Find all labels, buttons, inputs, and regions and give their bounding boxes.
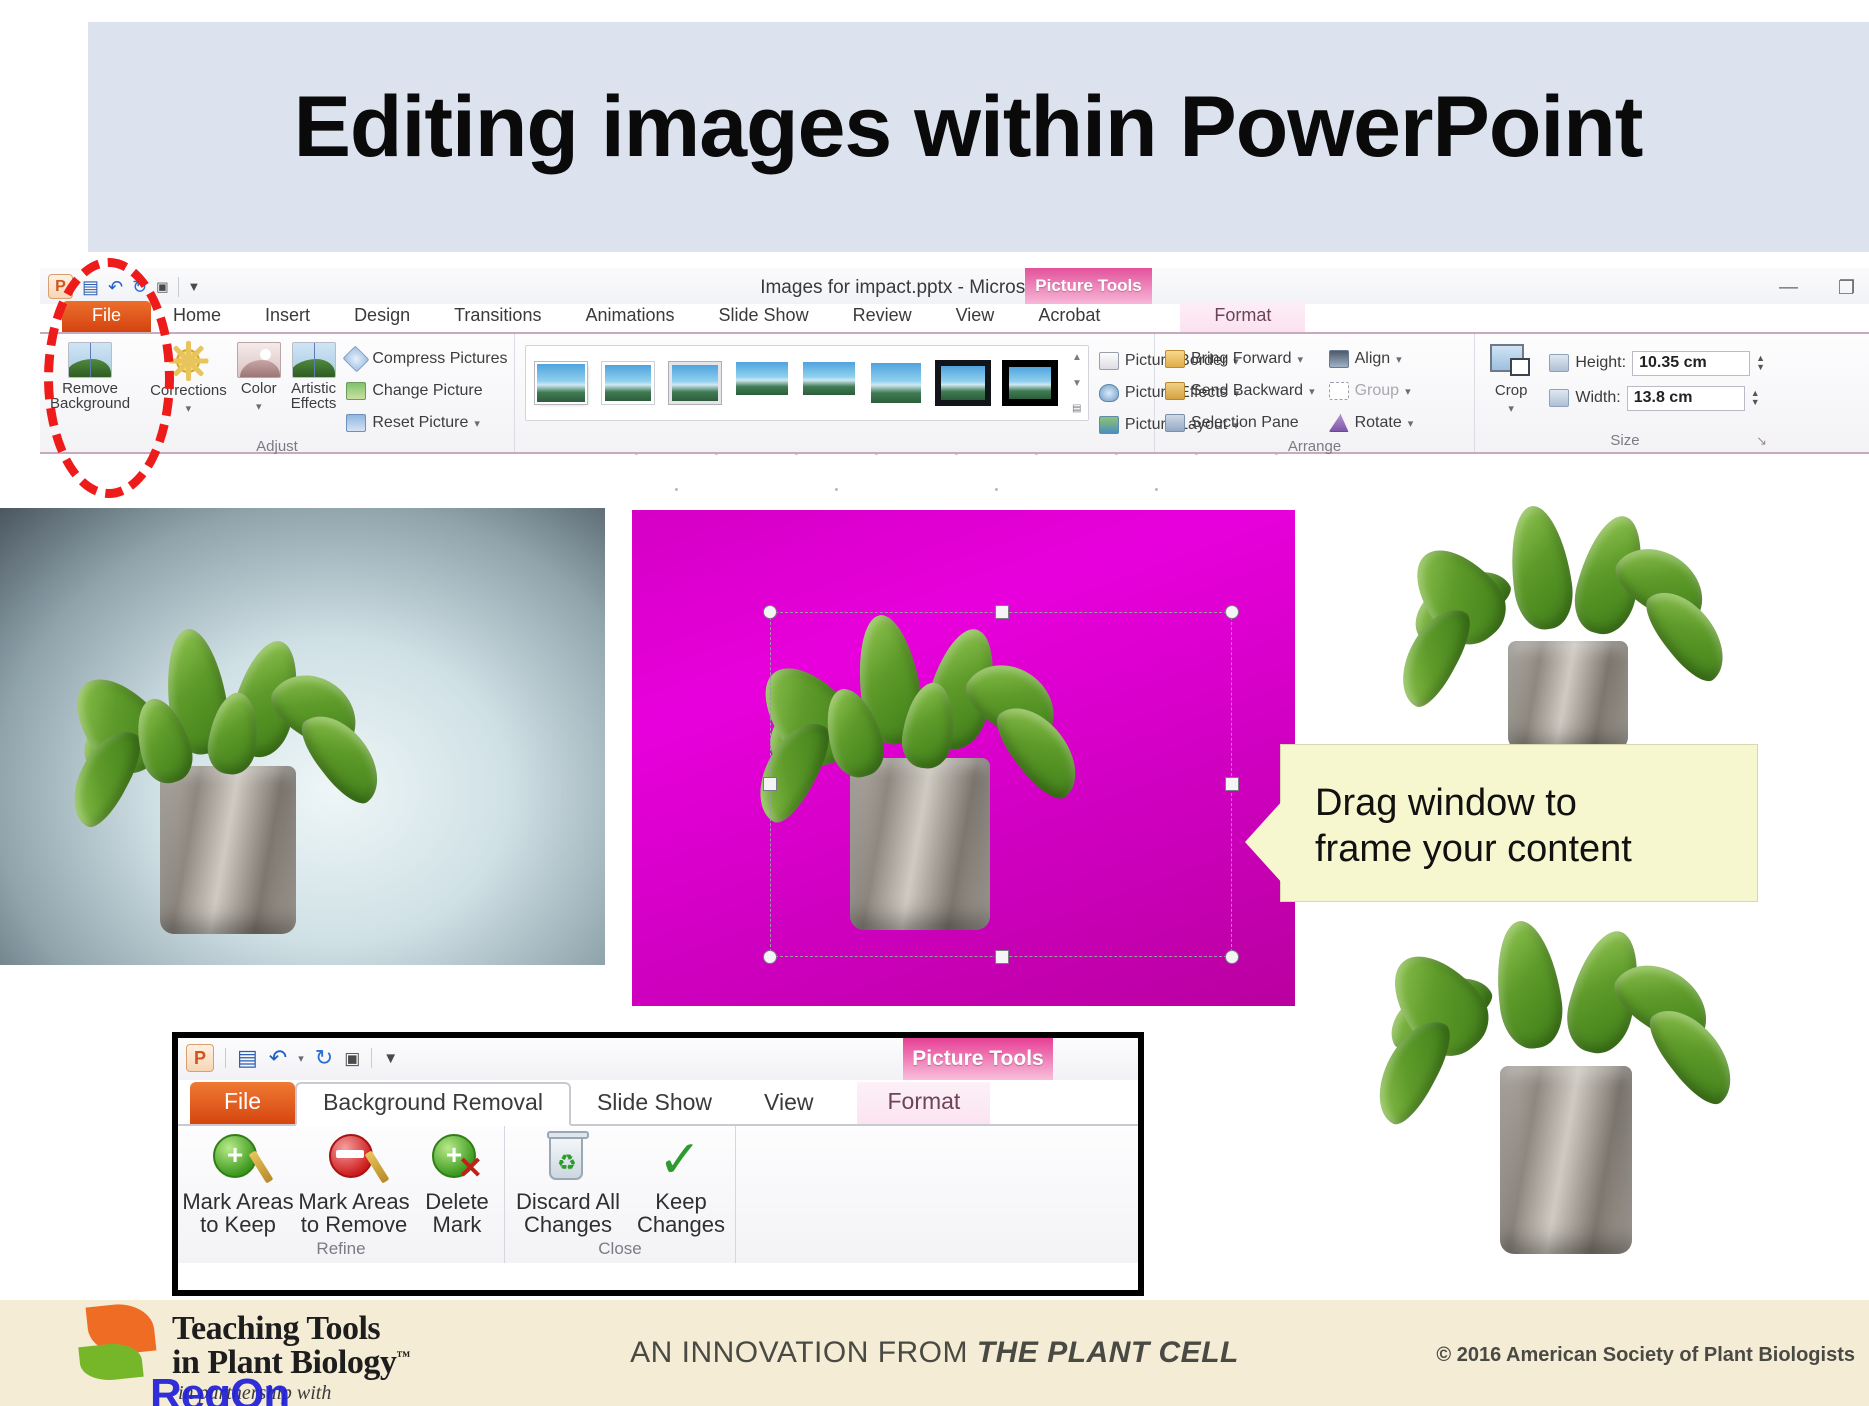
br-tab-file[interactable]: File xyxy=(190,1082,295,1124)
br-empty-area xyxy=(736,1126,1138,1263)
color-label: Color xyxy=(241,381,277,397)
artistic-effects-label-2: Effects xyxy=(291,396,337,412)
tab-home[interactable]: Home xyxy=(151,302,243,332)
mark-areas-to-keep-button[interactable]: + Mark Areas to Keep xyxy=(182,1132,294,1237)
resize-handle-ne[interactable] xyxy=(1225,605,1239,619)
contextual-tab-title: Picture Tools xyxy=(1025,268,1152,304)
resize-handle-w[interactable] xyxy=(763,777,777,791)
tab-design[interactable]: Design xyxy=(332,302,432,332)
br-tabstrip[interactable]: File Background Removal Slide Show View … xyxy=(178,1080,1138,1126)
picture-style-thumbnail[interactable] xyxy=(733,359,791,407)
picture-border-icon xyxy=(1099,352,1119,370)
color-button[interactable]: Color ▾ xyxy=(237,342,281,413)
delete-mark-label-2: Mark xyxy=(433,1213,482,1237)
ribbon-group-adjust: Remove Background Corrections ▾ xyxy=(40,334,515,452)
footer-copyright: © 2016 American Society of Plant Biologi… xyxy=(1436,1344,1855,1367)
resize-handle-se[interactable] xyxy=(1225,950,1239,964)
delete-mark-button[interactable]: +✕ Delete Mark xyxy=(414,1132,500,1237)
gallery-more-icon[interactable]: ▤ xyxy=(1072,403,1082,414)
undo-dropdown-icon[interactable]: ▾ xyxy=(298,1052,304,1065)
br-ribbon: + Mark Areas to Keep Mark Areas to Remov… xyxy=(178,1126,1138,1263)
picture-style-thumbnail[interactable] xyxy=(666,359,724,407)
br-tab-format[interactable]: Format xyxy=(857,1082,990,1124)
ribbon-group-label-size: Size xyxy=(1485,432,1765,452)
width-icon xyxy=(1549,389,1569,407)
redo-icon[interactable]: ↻ xyxy=(315,1047,333,1069)
br-quick-access-toolbar[interactable]: P ▤ ↶ ▾ ↻ ▣ ▼ xyxy=(186,1044,398,1072)
br-tab-view[interactable]: View xyxy=(738,1084,839,1124)
plant-illustration xyxy=(1380,495,1800,765)
mark-areas-to-keep-icon: + xyxy=(211,1132,265,1186)
picture-layout-icon xyxy=(1099,416,1119,434)
corrections-icon xyxy=(167,342,209,380)
change-picture-icon xyxy=(346,382,366,400)
powerpoint-orb-icon[interactable]: P xyxy=(186,1044,214,1072)
photo-result-top xyxy=(1380,495,1800,765)
plant-illustration xyxy=(0,508,605,965)
reset-picture-label: Reset Picture xyxy=(372,414,468,432)
br-tab-slide-show[interactable]: Slide Show xyxy=(571,1084,738,1124)
br-group-label-refine: Refine xyxy=(182,1237,500,1263)
picture-style-thumbnail[interactable] xyxy=(800,359,858,407)
resize-handle-n[interactable] xyxy=(995,605,1009,619)
height-label: Height: xyxy=(1575,354,1626,372)
br-group-close: ♻ Discard All Changes ✓ Keep Changes Clo… xyxy=(505,1126,736,1263)
mark-areas-to-remove-button[interactable]: Mark Areas to Remove xyxy=(298,1132,410,1237)
bring-forward-label: Bring Forward xyxy=(1191,350,1291,368)
ribbon: Remove Background Corrections ▾ xyxy=(40,334,1869,454)
compress-pictures-button[interactable]: Compress Pictures xyxy=(346,344,507,374)
discard-all-changes-button[interactable]: ♻ Discard All Changes xyxy=(509,1132,627,1237)
compress-pictures-icon xyxy=(343,346,370,373)
change-picture-label: Change Picture xyxy=(372,382,482,400)
picture-selection-frame[interactable] xyxy=(770,612,1232,957)
width-label: Width: xyxy=(1575,389,1620,407)
reset-picture-chevron-down-icon[interactable]: ▾ xyxy=(474,417,480,430)
rotate-chevron-down-icon[interactable]: ▾ xyxy=(1408,417,1414,430)
title-bar: P ▤ ↶ ↻ ▣ ▼ Images for impact.pptx - Mic… xyxy=(40,268,1869,306)
tab-file[interactable]: File xyxy=(62,301,151,332)
reset-picture-icon xyxy=(346,414,366,432)
customize-qat-icon[interactable]: ▼ xyxy=(383,1051,398,1066)
ribbon-group-label-arrange: Arrange xyxy=(1165,438,1464,458)
width-input[interactable]: 13.8 cm xyxy=(1627,386,1745,411)
resize-handle-nw[interactable] xyxy=(763,605,777,619)
footer-center-bold: THE PLANT CELL xyxy=(977,1336,1239,1369)
start-slideshow-icon[interactable]: ▣ xyxy=(344,1050,360,1067)
group-chevron-down-icon: ▾ xyxy=(1405,385,1411,398)
mark-areas-to-remove-label-1: Mark Areas xyxy=(298,1190,409,1214)
br-title-bar: P ▤ ↶ ▾ ↻ ▣ ▼ Picture Tools xyxy=(178,1038,1138,1080)
crop-icon xyxy=(1488,342,1534,380)
bring-forward-button[interactable]: Bring Forward ▾ xyxy=(1165,344,1315,374)
send-backward-icon xyxy=(1165,382,1185,400)
keep-changes-button[interactable]: ✓ Keep Changes xyxy=(631,1132,731,1237)
bring-forward-chevron-down-icon[interactable]: ▾ xyxy=(1297,353,1303,366)
remove-background-label-2: Background xyxy=(50,396,130,412)
group-button: Group ▾ xyxy=(1329,376,1414,406)
photo-original-background xyxy=(0,508,605,965)
footer-center-plain: AN INNOVATION FROM xyxy=(630,1336,977,1369)
tab-transitions[interactable]: Transitions xyxy=(432,302,563,332)
qat-separator xyxy=(371,1048,372,1068)
send-backward-chevron-down-icon[interactable]: ▾ xyxy=(1309,385,1315,398)
send-backward-button[interactable]: Send Backward ▾ xyxy=(1165,376,1315,406)
mark-areas-to-remove-label-2: to Remove xyxy=(301,1213,407,1237)
tab-insert[interactable]: Insert xyxy=(243,302,332,332)
qat-separator xyxy=(225,1048,226,1068)
keep-changes-label-1: Keep xyxy=(655,1190,706,1214)
crop-label: Crop xyxy=(1495,383,1528,399)
plant-illustration xyxy=(1370,920,1810,1280)
group-icon xyxy=(1329,382,1349,400)
corrections-button[interactable]: Corrections ▾ xyxy=(150,342,227,415)
ribbon-group-arrange: Bring Forward ▾ Send Backward ▾ Selectio… xyxy=(1155,334,1475,452)
width-field-row[interactable]: Width: 13.8 cm ▲▼ xyxy=(1549,383,1765,413)
height-icon xyxy=(1549,354,1569,372)
background-removal-window: P ▤ ↶ ▾ ↻ ▣ ▼ Picture Tools File Backgro… xyxy=(172,1032,1144,1296)
picture-effects-icon xyxy=(1099,384,1119,402)
callout-line-1: Drag window to xyxy=(1315,780,1745,826)
resize-handle-e[interactable] xyxy=(1225,777,1239,791)
send-backward-label: Send Backward xyxy=(1191,382,1303,400)
tab-slide-show[interactable]: Slide Show xyxy=(697,302,831,332)
compress-pictures-label: Compress Pictures xyxy=(372,350,507,368)
crop-button[interactable]: Crop ▾ xyxy=(1485,342,1537,415)
slide-root: Editing images within PowerPoint xyxy=(0,0,1869,1406)
rotate-icon xyxy=(1329,414,1349,432)
size-dialog-launcher-icon[interactable]: ↘ xyxy=(1756,433,1767,449)
save-icon[interactable]: ▤ xyxy=(237,1047,258,1069)
rotate-button[interactable]: Rotate ▾ xyxy=(1329,408,1414,438)
ribbon-group-label-picture-styles xyxy=(525,449,1144,452)
callout-text: Drag window to frame your content xyxy=(1315,780,1745,873)
color-chevron-down-icon[interactable]: ▾ xyxy=(256,400,262,413)
resize-handle-sw[interactable] xyxy=(763,950,777,964)
height-stepper[interactable]: ▲▼ xyxy=(1756,354,1765,372)
ribbon-tabstrip[interactable]: File Home Insert Design Transitions Anim… xyxy=(40,304,1869,334)
gallery-scroll-up-icon[interactable]: ▲ xyxy=(1072,352,1082,363)
selection-pane-label: Selection Pane xyxy=(1191,414,1299,432)
corrections-label: Corrections xyxy=(150,383,227,399)
tab-acrobat[interactable]: Acrobat xyxy=(1016,302,1122,332)
restore-button[interactable]: ❐ xyxy=(1838,277,1855,300)
ribbon-group-picture-styles: ▲ ▼ ▤ Picture Border ▾ Pic xyxy=(515,334,1155,452)
rotate-label: Rotate xyxy=(1355,414,1402,432)
minimize-button[interactable]: — xyxy=(1779,277,1798,300)
gallery-scroll-down-icon[interactable]: ▼ xyxy=(1072,378,1082,389)
ribbon-group-label-adjust: Adjust xyxy=(50,438,504,458)
br-tab-background-removal[interactable]: Background Removal xyxy=(295,1082,571,1126)
crop-chevron-down-icon[interactable]: ▾ xyxy=(1508,402,1514,415)
mark-areas-to-keep-label-1: Mark Areas xyxy=(182,1190,293,1214)
picture-style-thumbnail[interactable] xyxy=(1001,359,1059,407)
align-button[interactable]: Align ▾ xyxy=(1329,344,1414,374)
ribbon-group-size: Crop ▾ Height: 10.35 cm ▲▼ Width: xyxy=(1475,334,1775,452)
tab-review[interactable]: Review xyxy=(831,302,934,332)
artistic-effects-icon xyxy=(292,342,336,378)
undo-icon[interactable]: ↶ xyxy=(269,1047,287,1069)
mark-areas-to-remove-icon xyxy=(327,1132,381,1186)
picture-styles-gallery[interactable]: ▲ ▼ ▤ xyxy=(525,345,1089,421)
group-label: Group xyxy=(1355,382,1399,400)
br-group-label-close: Close xyxy=(509,1237,731,1263)
gallery-scrollbar[interactable]: ▲ ▼ ▤ xyxy=(1072,352,1082,414)
delete-mark-icon: +✕ xyxy=(430,1132,484,1186)
br-contextual-tab-title: Picture Tools xyxy=(903,1038,1053,1080)
align-chevron-down-icon[interactable]: ▾ xyxy=(1396,353,1402,366)
window-title: Images for impact.pptx - Microsoft Power… xyxy=(40,277,1869,299)
selection-pane-button[interactable]: Selection Pane xyxy=(1165,408,1315,438)
align-label: Align xyxy=(1355,350,1391,368)
remove-background-icon xyxy=(68,342,112,378)
window-controls[interactable]: — ❐ xyxy=(1779,277,1855,300)
remove-background-button[interactable]: Remove Background xyxy=(50,342,130,412)
mark-areas-to-keep-label-2: to Keep xyxy=(200,1213,276,1237)
delete-mark-label-1: Delete xyxy=(425,1190,489,1214)
discard-all-changes-label-1: Discard All xyxy=(516,1190,620,1214)
selection-pane-icon xyxy=(1165,414,1185,432)
page-title: Editing images within PowerPoint xyxy=(88,78,1848,177)
picture-style-thumbnail[interactable] xyxy=(532,359,590,407)
tab-view[interactable]: View xyxy=(934,302,1017,332)
align-icon xyxy=(1329,350,1349,368)
change-picture-button[interactable]: Change Picture xyxy=(346,376,507,406)
picture-style-thumbnail[interactable] xyxy=(867,359,925,407)
discard-all-changes-label-2: Changes xyxy=(524,1213,612,1237)
callout-line-2: frame your content xyxy=(1315,826,1745,872)
br-group-refine: + Mark Areas to Keep Mark Areas to Remov… xyxy=(178,1126,505,1263)
watermark-text: ReqOn xyxy=(150,1370,289,1406)
discard-all-changes-icon: ♻ xyxy=(541,1132,595,1186)
keep-changes-label-2: Changes xyxy=(637,1213,725,1237)
artistic-effects-button[interactable]: Artistic Effects xyxy=(291,342,337,412)
reset-picture-button[interactable]: Reset Picture ▾ xyxy=(346,408,507,438)
photo-result-bottom xyxy=(1370,920,1810,1280)
width-stepper[interactable]: ▲▼ xyxy=(1751,389,1760,407)
picture-style-thumbnail[interactable] xyxy=(934,359,992,407)
height-input[interactable]: 10.35 cm xyxy=(1632,351,1750,376)
powerpoint-window: P ▤ ↶ ↻ ▣ ▼ Images for impact.pptx - Mic… xyxy=(40,268,1869,454)
tab-animations[interactable]: Animations xyxy=(563,302,696,332)
picture-style-thumbnail[interactable] xyxy=(599,359,657,407)
bring-forward-icon xyxy=(1165,350,1185,368)
callout-pointer xyxy=(1245,800,1283,884)
keep-changes-icon: ✓ xyxy=(654,1132,708,1186)
tab-format[interactable]: Format xyxy=(1180,302,1305,332)
color-icon xyxy=(237,342,281,378)
corrections-chevron-down-icon[interactable]: ▾ xyxy=(186,402,192,415)
resize-handle-s[interactable] xyxy=(995,950,1009,964)
height-field-row[interactable]: Height: 10.35 cm ▲▼ xyxy=(1549,348,1765,378)
